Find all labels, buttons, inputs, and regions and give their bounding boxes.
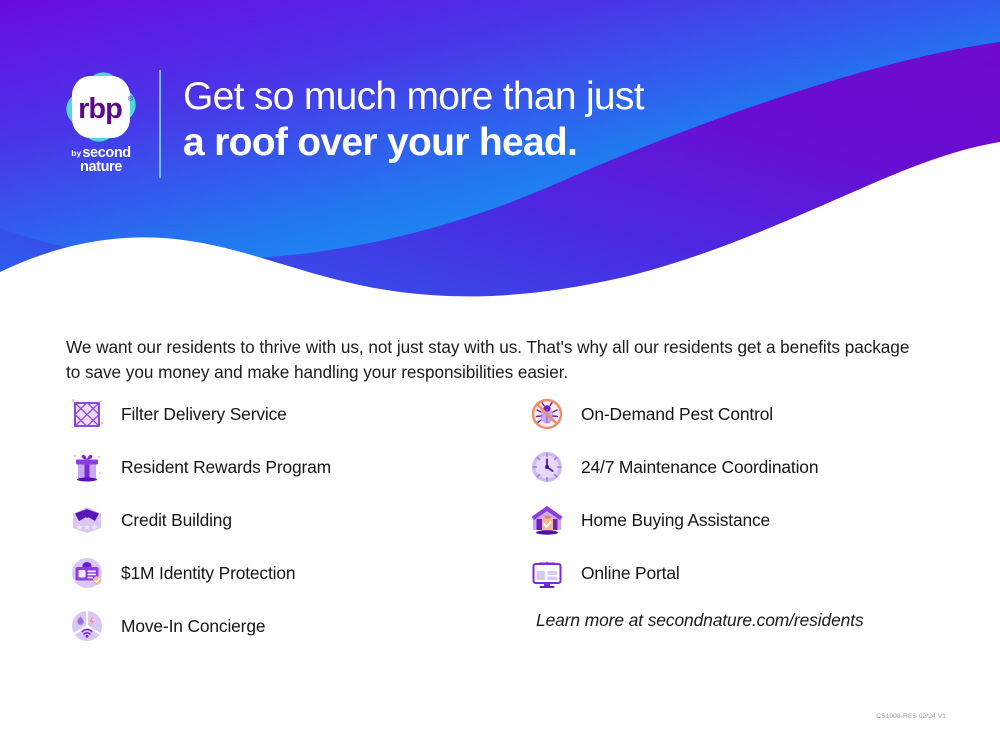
headline-line-2: a roof over your head. (183, 120, 644, 166)
benefit-item-home-buying: Home Buying Assistance (526, 494, 956, 546)
filter-icon (66, 393, 108, 435)
benefit-item-move-in-concierge: Move-In Concierge (66, 600, 496, 652)
utilities-wheel-icon (66, 605, 108, 647)
rbp-logo-byline: bysecond nature (55, 146, 147, 175)
benefits-column-right: On-Demand Pest Control 24/7 Maintenance … (526, 388, 956, 600)
rbp-logo-mark: rbp ® (59, 68, 143, 146)
svg-text:rbp: rbp (78, 93, 122, 125)
document-code: CS1008-RES 02/24 V1 (876, 713, 946, 720)
page-title: Get so much more than just a roof over y… (183, 74, 644, 166)
benefit-item-online-portal: Online Portal (526, 547, 956, 599)
benefit-label: Move-In Concierge (121, 616, 265, 637)
monitor-icon (526, 552, 568, 594)
intro-paragraph: We want our residents to thrive with us,… (66, 335, 911, 384)
benefit-item-identity-protection: $1M Identity Protection (66, 547, 496, 599)
credit-badge-icon (66, 499, 108, 541)
benefit-label: Online Portal (581, 563, 680, 584)
hero-vertical-divider (159, 70, 161, 178)
benefits-column-left: Filter Delivery Service Resident Rewards… (66, 388, 496, 653)
benefit-label: Home Buying Assistance (581, 510, 770, 531)
logo-by-text: by (71, 149, 81, 158)
learn-more-link[interactable]: Learn more at secondnature.com/residents (536, 610, 864, 631)
headline-line-1: Get so much more than just (183, 74, 644, 120)
house-checklist-icon (526, 499, 568, 541)
logo-nature-text: nature (55, 160, 147, 175)
benefit-label: On-Demand Pest Control (581, 404, 773, 425)
gift-icon (66, 446, 108, 488)
benefit-item-maintenance: 24/7 Maintenance Coordination (526, 441, 956, 493)
benefit-label: 24/7 Maintenance Coordination (581, 457, 818, 478)
no-pest-icon (526, 393, 568, 435)
benefit-label: Credit Building (121, 510, 232, 531)
svg-text:®: ® (128, 95, 134, 103)
hero-banner: rbp ® bysecond nature Get so much more t… (0, 0, 1000, 300)
benefit-label: $1M Identity Protection (121, 563, 295, 584)
rbp-logo: rbp ® bysecond nature (55, 68, 147, 180)
benefit-label: Resident Rewards Program (121, 457, 331, 478)
benefit-label: Filter Delivery Service (121, 404, 287, 425)
benefit-item-pest-control: On-Demand Pest Control (526, 388, 956, 440)
benefit-item-resident-rewards: Resident Rewards Program (66, 441, 496, 493)
benefit-item-credit-building: Credit Building (66, 494, 496, 546)
benefit-item-filter-delivery: Filter Delivery Service (66, 388, 496, 440)
clock-icon (526, 446, 568, 488)
id-shield-icon (66, 552, 108, 594)
